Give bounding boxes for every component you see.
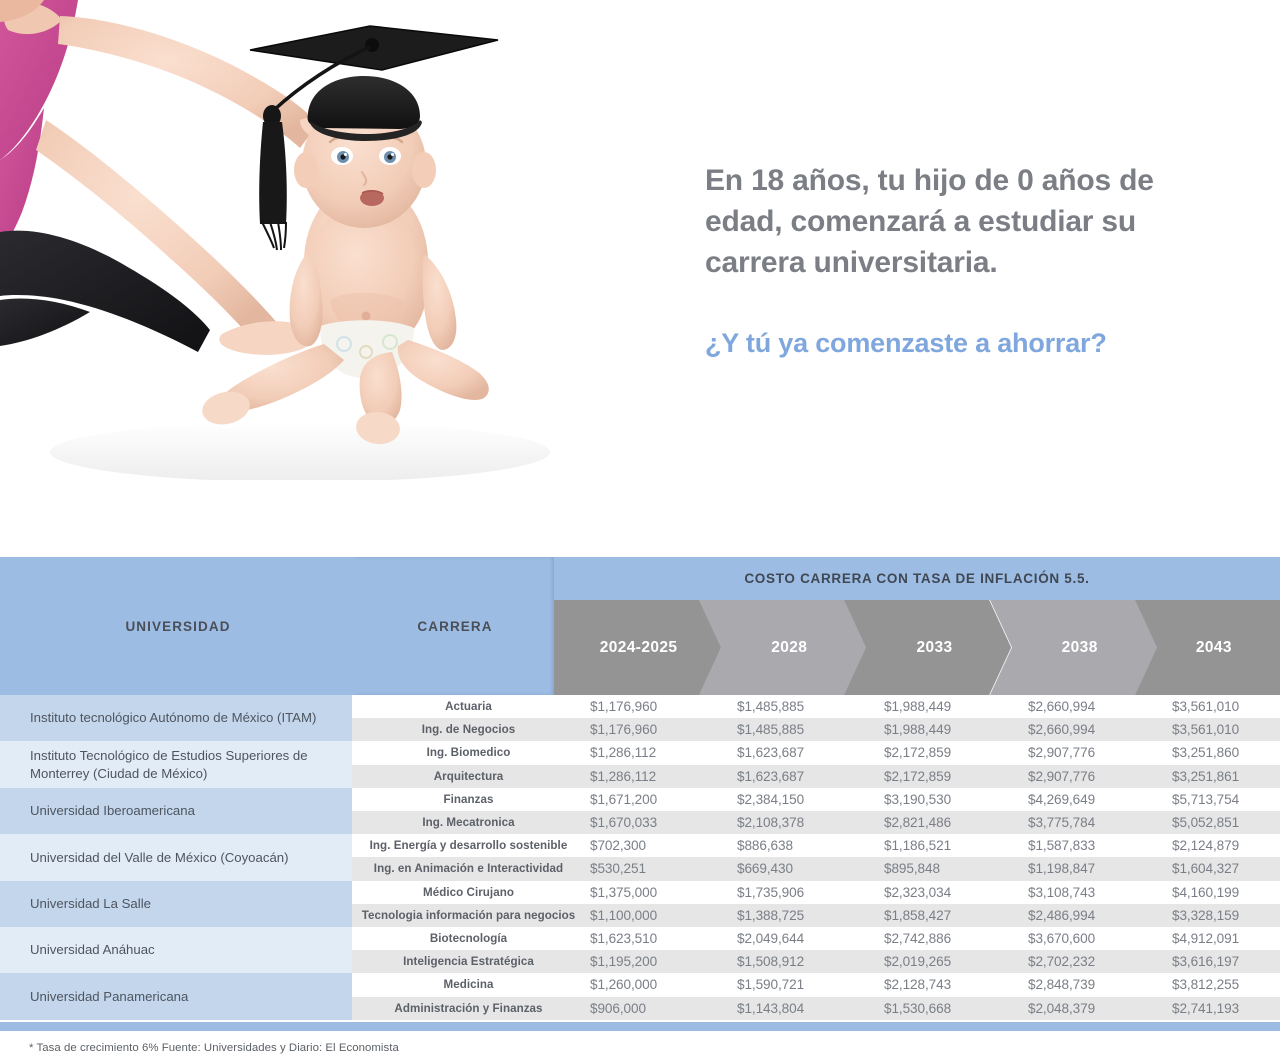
- cost-cell-2024-2025: $1,195,200: [590, 950, 735, 973]
- cost-cell-2043: $3,616,197: [1172, 950, 1280, 973]
- cost-cell-2033: $2,128,743: [884, 973, 1029, 996]
- carrera-cell: Inteligencia Estratégica: [352, 950, 585, 973]
- table-header: UNIVERSIDAD CARRERA COSTO CARRERA CON TA…: [0, 557, 1280, 695]
- table-row: Finanzas$1,671,200$2,384,150$3,190,530$4…: [0, 788, 1280, 811]
- cost-cell-2028: $1,623,687: [737, 765, 882, 788]
- carrera-cell: Ing. en Animación e Interactividad: [352, 857, 585, 880]
- carrera-cell: Ing. de Negocios: [352, 718, 585, 741]
- cost-cell-2038: $2,660,994: [1028, 718, 1173, 741]
- cost-cell-2033: $1,988,449: [884, 718, 1029, 741]
- year-label: 2024-2025: [598, 639, 678, 657]
- cost-cell-2038: $1,198,847: [1028, 857, 1173, 880]
- cost-cell-2024-2025: $1,176,960: [590, 695, 735, 718]
- cost-cell-2024-2025: $1,375,000: [590, 881, 735, 904]
- carrera-cell: Actuaria: [352, 695, 585, 718]
- carrera-cell: Tecnologia información para negocios: [352, 904, 585, 927]
- year-chevron-2024-2025[interactable]: 2024-2025: [554, 600, 721, 695]
- carrera-cell: Biotecnología: [352, 927, 585, 950]
- cost-cell-2024-2025: $1,671,200: [590, 788, 735, 811]
- hero-subheadline: ¿Y tú ya comenzaste a ahorrar?: [705, 325, 1165, 362]
- carrera-cell: Ing. Mecatronica: [352, 811, 585, 834]
- slide-page: En 18 años, tu hijo de 0 años de edad, c…: [0, 0, 1280, 1060]
- table-footnote: * Tasa de crecimiento 6% Fuente: Univers…: [29, 1042, 399, 1054]
- cost-cell-2028: $1,735,906: [737, 881, 882, 904]
- year-chevron-2043[interactable]: 2043: [1135, 600, 1280, 695]
- carrera-cell: Arquitectura: [352, 765, 585, 788]
- year-chevron-2038[interactable]: 2038: [990, 600, 1157, 695]
- table-row: Ing. Mecatronica$1,670,033$2,108,378$2,8…: [0, 811, 1280, 834]
- cost-cell-2033: $2,821,486: [884, 811, 1029, 834]
- cost-cell-2043: $3,561,010: [1172, 718, 1280, 741]
- cost-cell-2024-2025: $1,286,112: [590, 765, 735, 788]
- cost-cell-2024-2025: $1,286,112: [590, 741, 735, 764]
- cost-cell-2028: $1,388,725: [737, 904, 882, 927]
- table-row: Ing. Energía y desarrollo sostenible$702…: [0, 834, 1280, 857]
- table-bottom-bar: [0, 1022, 1280, 1031]
- cost-cell-2033: $1,530,668: [884, 997, 1029, 1020]
- cost-cell-2033: $1,186,521: [884, 834, 1029, 857]
- cost-cell-2028: $1,623,687: [737, 741, 882, 764]
- cost-cell-2038: $2,907,776: [1028, 741, 1173, 764]
- cost-table: UNIVERSIDAD CARRERA COSTO CARRERA CON TA…: [0, 557, 1280, 1020]
- table-row: Actuaria$1,176,960$1,485,885$1,988,449$2…: [0, 695, 1280, 718]
- cost-cell-2043: $4,912,091: [1172, 927, 1280, 950]
- cost-cell-2028: $886,638: [737, 834, 882, 857]
- cost-cell-2033: $2,172,859: [884, 765, 1029, 788]
- cost-cell-2038: $3,670,600: [1028, 927, 1173, 950]
- cost-cell-2028: $1,143,804: [737, 997, 882, 1020]
- cost-cell-2028: $1,590,721: [737, 973, 882, 996]
- cost-cell-2043: $3,251,861: [1172, 765, 1280, 788]
- year-label: 2043: [1194, 639, 1232, 657]
- table-row: Administración y Finanzas$906,000$1,143,…: [0, 997, 1280, 1020]
- cost-cell-2033: $1,988,449: [884, 695, 1029, 718]
- year-label: 2038: [1060, 639, 1098, 657]
- cost-cell-2038: $2,048,379: [1028, 997, 1173, 1020]
- cost-cell-2024-2025: $906,000: [590, 997, 735, 1020]
- table-row: Ing. de Negocios$1,176,960$1,485,885$1,9…: [0, 718, 1280, 741]
- cost-cell-2038: $2,907,776: [1028, 765, 1173, 788]
- carrera-cell: Ing. Energía y desarrollo sostenible: [352, 834, 585, 857]
- carrera-cell: Administración y Finanzas: [352, 997, 585, 1020]
- header-carrera: CARRERA: [356, 557, 554, 695]
- carrera-cell: Medicina: [352, 973, 585, 996]
- cost-cell-2033: $2,323,034: [884, 881, 1029, 904]
- hero-section: En 18 años, tu hijo de 0 años de edad, c…: [0, 0, 1280, 545]
- cost-cell-2028: $669,430: [737, 857, 882, 880]
- cost-cell-2043: $5,713,754: [1172, 788, 1280, 811]
- cost-cell-2028: $1,485,885: [737, 718, 882, 741]
- table-row: Tecnologia información para negocios$1,1…: [0, 904, 1280, 927]
- cost-cell-2043: $3,328,159: [1172, 904, 1280, 927]
- cost-cell-2024-2025: $1,623,510: [590, 927, 735, 950]
- table-row: Inteligencia Estratégica$1,195,200$1,508…: [0, 950, 1280, 973]
- year-label: 2033: [914, 639, 952, 657]
- cost-cell-2033: $895,848: [884, 857, 1029, 880]
- cost-cell-2033: $2,172,859: [884, 741, 1029, 764]
- header-year-chevrons: 2024-20252028203320382043: [554, 600, 1280, 695]
- table-row: Arquitectura$1,286,112$1,623,687$2,172,8…: [0, 765, 1280, 788]
- photo-illustration: [0, 0, 556, 480]
- year-chevron-2028[interactable]: 2028: [699, 600, 866, 695]
- cost-cell-2033: $2,742,886: [884, 927, 1029, 950]
- table-row: Ing. en Animación e Interactividad$530,2…: [0, 857, 1280, 880]
- cost-cell-2038: $3,108,743: [1028, 881, 1173, 904]
- cost-cell-2043: $3,561,010: [1172, 695, 1280, 718]
- cost-cell-2033: $1,858,427: [884, 904, 1029, 927]
- table-row: Médico Cirujano$1,375,000$1,735,906$2,32…: [0, 881, 1280, 904]
- header-universidad: UNIVERSIDAD: [0, 557, 356, 695]
- cost-cell-2024-2025: $1,670,033: [590, 811, 735, 834]
- year-label: 2028: [769, 639, 807, 657]
- carrera-cell: Finanzas: [352, 788, 585, 811]
- cost-cell-2024-2025: $1,176,960: [590, 718, 735, 741]
- hero-text-block: En 18 años, tu hijo de 0 años de edad, c…: [705, 160, 1165, 362]
- cost-cell-2043: $5,052,851: [1172, 811, 1280, 834]
- cost-cell-2024-2025: $702,300: [590, 834, 735, 857]
- table-row: Biotecnología$1,623,510$2,049,644$2,742,…: [0, 927, 1280, 950]
- cost-cell-2038: $3,775,784: [1028, 811, 1173, 834]
- table-row: Ing. Biomedico$1,286,112$1,623,687$2,172…: [0, 741, 1280, 764]
- cost-cell-2043: $2,741,193: [1172, 997, 1280, 1020]
- cost-cell-2024-2025: $1,100,000: [590, 904, 735, 927]
- cost-cell-2043: $3,251,860: [1172, 741, 1280, 764]
- table-body: Instituto tecnológico Autónomo de México…: [0, 695, 1280, 1020]
- cost-cell-2033: $3,190,530: [884, 788, 1029, 811]
- cost-cell-2024-2025: $530,251: [590, 857, 735, 880]
- header-cost-title: COSTO CARRERA CON TASA DE INFLACIÓN 5.5.: [554, 557, 1280, 600]
- cost-cell-2043: $2,124,879: [1172, 834, 1280, 857]
- cost-cell-2038: $2,848,739: [1028, 973, 1173, 996]
- carrera-cell: Ing. Biomedico: [352, 741, 585, 764]
- cost-cell-2043: $1,604,327: [1172, 857, 1280, 880]
- cost-cell-2028: $2,108,378: [737, 811, 882, 834]
- baby-graduation-photo: [0, 0, 556, 480]
- cost-cell-2033: $2,019,265: [884, 950, 1029, 973]
- hero-headline: En 18 años, tu hijo de 0 años de edad, c…: [705, 160, 1165, 283]
- cost-cell-2028: $2,049,644: [737, 927, 882, 950]
- cost-cell-2038: $2,486,994: [1028, 904, 1173, 927]
- cost-cell-2024-2025: $1,260,000: [590, 973, 735, 996]
- cost-cell-2028: $1,508,912: [737, 950, 882, 973]
- cost-cell-2038: $2,660,994: [1028, 695, 1173, 718]
- cost-cell-2038: $4,269,649: [1028, 788, 1173, 811]
- cost-cell-2028: $1,485,885: [737, 695, 882, 718]
- cost-cell-2038: $2,702,232: [1028, 950, 1173, 973]
- table-row: Medicina$1,260,000$1,590,721$2,128,743$2…: [0, 973, 1280, 996]
- cost-cell-2043: $3,812,255: [1172, 973, 1280, 996]
- cost-cell-2043: $4,160,199: [1172, 881, 1280, 904]
- cost-cell-2038: $1,587,833: [1028, 834, 1173, 857]
- year-chevron-2033[interactable]: 2033: [844, 600, 1011, 695]
- carrera-cell: Médico Cirujano: [352, 881, 585, 904]
- cost-cell-2028: $2,384,150: [737, 788, 882, 811]
